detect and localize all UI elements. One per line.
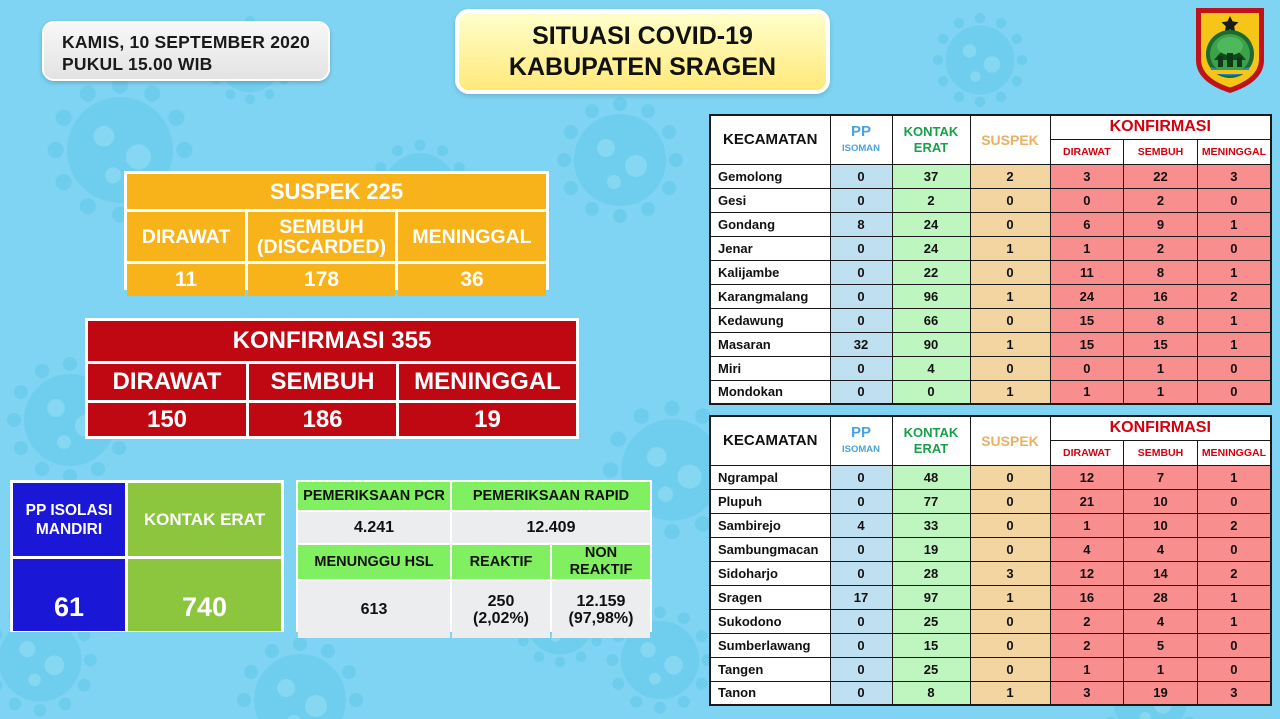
th-sembuh: SEMBUH	[1124, 440, 1198, 465]
date-badge: KAMIS, 10 SEPTEMBER 2020 PUKUL 15.00 WIB	[42, 21, 330, 81]
suspek-value-sembuh: 178	[248, 264, 395, 296]
cell-kontak-erat: 25	[892, 609, 970, 633]
cell-suspek: 0	[970, 489, 1050, 513]
suspek-label-dirawat: DIRAWAT	[127, 212, 245, 261]
th-sembuh: SEMBUH	[1124, 139, 1198, 164]
cell-konfirmasi-meninggal: 1	[1197, 465, 1271, 489]
cell-konfirmasi-sembuh: 1	[1124, 356, 1198, 380]
cell-kontak-erat: 66	[892, 308, 970, 332]
cell-kontak-erat: 25	[892, 657, 970, 681]
konfirmasi-value-meninggal: 19	[399, 403, 576, 436]
cell-konfirmasi-meninggal: 0	[1197, 633, 1271, 657]
cell-konfirmasi-meninggal: 0	[1197, 188, 1271, 212]
cell-kecamatan: Sidoharjo	[710, 561, 830, 585]
cell-kecamatan: Sukodono	[710, 609, 830, 633]
cell-konfirmasi-meninggal: 2	[1197, 513, 1271, 537]
cell-pp-isoman: 0	[830, 188, 892, 212]
cell-konfirmasi-dirawat: 3	[1050, 164, 1124, 188]
cell-kecamatan: Mondokan	[710, 380, 830, 404]
cell-konfirmasi-meninggal: 1	[1197, 260, 1271, 284]
cell-kontak-erat: 37	[892, 164, 970, 188]
konfirmasi-label-sembuh: SEMBUH	[249, 364, 396, 400]
cell-suspek: 1	[970, 236, 1050, 260]
cell-konfirmasi-dirawat: 3	[1050, 681, 1124, 705]
cell-suspek: 0	[970, 609, 1050, 633]
pcr-label: PEMERIKSAAN PCR	[298, 482, 450, 510]
cell-konfirmasi-sembuh: 15	[1124, 332, 1198, 356]
cell-pp-isoman: 0	[830, 657, 892, 681]
cell-kecamatan: Ngrampal	[710, 465, 830, 489]
cell-konfirmasi-dirawat: 1	[1050, 236, 1124, 260]
cell-konfirmasi-meninggal: 0	[1197, 380, 1271, 404]
table-row: Tangen0250110	[710, 657, 1271, 681]
cell-konfirmasi-meninggal: 1	[1197, 585, 1271, 609]
th-dirawat: DIRAWAT	[1050, 139, 1124, 164]
cell-konfirmasi-dirawat: 15	[1050, 308, 1124, 332]
pp-isolasi-label-line1: PP ISOLASI	[26, 501, 113, 520]
testing-summary-panel: PEMERIKSAAN PCR PEMERIKSAAN RAPID 4.241 …	[296, 480, 652, 632]
title-line-1: SITUASI COVID-19	[532, 21, 753, 52]
table-row: Kedawung06601581	[710, 308, 1271, 332]
cell-konfirmasi-dirawat: 1	[1050, 657, 1124, 681]
cell-konfirmasi-sembuh: 2	[1124, 236, 1198, 260]
pp-isolasi-value: 61	[13, 559, 125, 631]
cell-konfirmasi-meninggal: 2	[1197, 284, 1271, 308]
th-kontak-erat: KONTAK ERAT	[892, 115, 970, 164]
th-kecamatan: KECAMATAN	[710, 416, 830, 465]
table-2-body: Ngrampal04801271Plupuh077021100Sambirejo…	[710, 465, 1271, 705]
th-konfirmasi: KONFIRMASI	[1050, 115, 1271, 139]
cell-kontak-erat: 0	[892, 380, 970, 404]
cell-kecamatan: Masaran	[710, 332, 830, 356]
cell-suspek: 0	[970, 212, 1050, 236]
th-konfirmasi: KONFIRMASI	[1050, 416, 1271, 440]
table-row: Sumberlawang0150250	[710, 633, 1271, 657]
cell-konfirmasi-sembuh: 9	[1124, 212, 1198, 236]
cell-pp-isoman: 17	[830, 585, 892, 609]
konfirmasi-heading: KONFIRMASI 355	[88, 321, 576, 361]
table-row: Tanon0813193	[710, 681, 1271, 705]
cell-konfirmasi-dirawat: 0	[1050, 356, 1124, 380]
kontak-erat-label: KONTAK ERAT	[128, 483, 281, 556]
suspek-summary-panel: SUSPEK 225 DIRAWAT SEMBUH (DISCARDED) ME…	[124, 171, 549, 290]
cell-konfirmasi-dirawat: 2	[1050, 633, 1124, 657]
table-row: Jenar0241120	[710, 236, 1271, 260]
table-row: Sidoharjo028312142	[710, 561, 1271, 585]
cell-konfirmasi-sembuh: 8	[1124, 260, 1198, 284]
cell-suspek: 0	[970, 513, 1050, 537]
cell-konfirmasi-meninggal: 1	[1197, 212, 1271, 236]
cell-pp-isoman: 0	[830, 380, 892, 404]
non-reaktif-percent: (97,98%)	[569, 610, 634, 627]
th-pp-isoman: PP ISOMAN	[830, 416, 892, 465]
table-row: Gondang8240691	[710, 212, 1271, 236]
table-row: Sragen1797116281	[710, 585, 1271, 609]
cell-kontak-erat: 48	[892, 465, 970, 489]
cell-kecamatan: Sumberlawang	[710, 633, 830, 657]
table-row: Karangmalang096124162	[710, 284, 1271, 308]
th-kontak-line1: KONTAK	[904, 425, 959, 440]
cell-pp-isoman: 0	[830, 465, 892, 489]
non-reaktif-label: NON REAKTIF	[552, 545, 650, 579]
konfirmasi-label-dirawat: DIRAWAT	[88, 364, 246, 400]
cell-kontak-erat: 90	[892, 332, 970, 356]
cell-kontak-erat: 24	[892, 212, 970, 236]
cell-kecamatan: Gemolong	[710, 164, 830, 188]
cell-konfirmasi-sembuh: 4	[1124, 609, 1198, 633]
kecamatan-table-2: KECAMATAN PP ISOMAN KONTAK ERAT SUSPEK K…	[709, 415, 1272, 706]
reaktif-count: 250	[473, 593, 529, 610]
cell-kecamatan: Kalijambe	[710, 260, 830, 284]
cell-konfirmasi-sembuh: 10	[1124, 513, 1198, 537]
cell-kontak-erat: 33	[892, 513, 970, 537]
pcr-value: 4.241	[298, 512, 450, 543]
cell-kecamatan: Sragen	[710, 585, 830, 609]
cell-pp-isoman: 0	[830, 681, 892, 705]
cell-suspek: 1	[970, 380, 1050, 404]
cell-konfirmasi-dirawat: 1	[1050, 380, 1124, 404]
th-pp-main: PP	[851, 424, 871, 441]
suspek-value-dirawat: 11	[127, 264, 245, 296]
cell-suspek: 0	[970, 260, 1050, 284]
cell-konfirmasi-dirawat: 1	[1050, 513, 1124, 537]
cell-konfirmasi-sembuh: 19	[1124, 681, 1198, 705]
table-row: Gemolong03723223	[710, 164, 1271, 188]
th-kecamatan: KECAMATAN	[710, 115, 830, 164]
cell-konfirmasi-sembuh: 1	[1124, 380, 1198, 404]
cell-suspek: 2	[970, 164, 1050, 188]
cell-kecamatan: Sambirejo	[710, 513, 830, 537]
suspek-value-meninggal: 36	[398, 264, 546, 296]
cell-konfirmasi-dirawat: 12	[1050, 465, 1124, 489]
cell-suspek: 1	[970, 585, 1050, 609]
pp-isolasi-label-line2: MANDIRI	[26, 520, 113, 539]
cell-kontak-erat: 97	[892, 585, 970, 609]
cell-suspek: 3	[970, 561, 1050, 585]
cell-konfirmasi-sembuh: 22	[1124, 164, 1198, 188]
cell-kontak-erat: 96	[892, 284, 970, 308]
table-row: Miri040010	[710, 356, 1271, 380]
cell-konfirmasi-sembuh: 8	[1124, 308, 1198, 332]
reaktif-percent: (2,02%)	[473, 610, 529, 627]
rapid-label: PEMERIKSAAN RAPID	[452, 482, 650, 510]
date-line-2: PUKUL 15.00 WIB	[62, 53, 328, 75]
cell-konfirmasi-meninggal: 1	[1197, 308, 1271, 332]
date-line-1: KAMIS, 10 SEPTEMBER 2020	[62, 31, 328, 53]
cell-kecamatan: Gesi	[710, 188, 830, 212]
cell-pp-isoman: 0	[830, 236, 892, 260]
cell-kontak-erat: 4	[892, 356, 970, 380]
title-line-2: KABUPATEN SRAGEN	[509, 52, 776, 83]
suspek-label-meninggal: MENINGGAL	[398, 212, 546, 261]
cell-konfirmasi-sembuh: 28	[1124, 585, 1198, 609]
cell-konfirmasi-meninggal: 3	[1197, 681, 1271, 705]
reaktif-label: REAKTIF	[452, 545, 550, 579]
cell-kontak-erat: 19	[892, 537, 970, 561]
th-meninggal: MENINGGAL	[1197, 139, 1271, 164]
cell-konfirmasi-meninggal: 0	[1197, 537, 1271, 561]
table-1-header: KECAMATAN PP ISOMAN KONTAK ERAT SUSPEK K…	[710, 115, 1271, 164]
cell-suspek: 1	[970, 332, 1050, 356]
cell-konfirmasi-meninggal: 0	[1197, 657, 1271, 681]
konfirmasi-value-dirawat: 150	[88, 403, 246, 436]
kabupaten-sragen-logo-icon	[1190, 4, 1270, 96]
table-row: Plupuh077021100	[710, 489, 1271, 513]
cell-konfirmasi-dirawat: 4	[1050, 537, 1124, 561]
suspek-label-sembuh-line1: SEMBUH	[257, 217, 386, 237]
cell-konfirmasi-sembuh: 1	[1124, 657, 1198, 681]
table-row: Kalijambe02201181	[710, 260, 1271, 284]
cell-konfirmasi-meninggal: 2	[1197, 561, 1271, 585]
cell-kecamatan: Jenar	[710, 236, 830, 260]
cell-konfirmasi-meninggal: 0	[1197, 236, 1271, 260]
cell-kontak-erat: 77	[892, 489, 970, 513]
cell-konfirmasi-meninggal: 0	[1197, 489, 1271, 513]
cell-konfirmasi-meninggal: 1	[1197, 609, 1271, 633]
table-1-body: Gemolong03723223Gesi020020Gondang8240691…	[710, 164, 1271, 404]
cell-kecamatan: Gondang	[710, 212, 830, 236]
cell-suspek: 1	[970, 284, 1050, 308]
cell-kontak-erat: 2	[892, 188, 970, 212]
th-pp-sub: ISOMAN	[831, 441, 892, 458]
table-row: Sambungmacan0190440	[710, 537, 1271, 561]
cell-kontak-erat: 8	[892, 681, 970, 705]
cell-pp-isoman: 0	[830, 633, 892, 657]
cell-konfirmasi-dirawat: 2	[1050, 609, 1124, 633]
th-dirawat: DIRAWAT	[1050, 440, 1124, 465]
cell-suspek: 1	[970, 681, 1050, 705]
th-meninggal: MENINGGAL	[1197, 440, 1271, 465]
cell-kecamatan: Plupuh	[710, 489, 830, 513]
cell-kecamatan: Sambungmacan	[710, 537, 830, 561]
suspek-heading: SUSPEK 225	[127, 174, 546, 209]
cell-pp-isoman: 0	[830, 537, 892, 561]
cell-konfirmasi-sembuh: 7	[1124, 465, 1198, 489]
cell-konfirmasi-dirawat: 15	[1050, 332, 1124, 356]
cell-pp-isoman: 0	[830, 609, 892, 633]
cell-kecamatan: Tanon	[710, 681, 830, 705]
th-kontak-line2: ERAT	[914, 441, 948, 456]
cell-pp-isoman: 0	[830, 164, 892, 188]
cell-suspek: 0	[970, 356, 1050, 380]
th-pp-main: PP	[851, 123, 871, 140]
cell-konfirmasi-meninggal: 1	[1197, 332, 1271, 356]
cell-konfirmasi-dirawat: 0	[1050, 188, 1124, 212]
reaktif-value: 250 (2,02%)	[452, 581, 550, 638]
non-reaktif-value: 12.159 (97,98%)	[552, 581, 650, 638]
th-pp-sub: ISOMAN	[831, 140, 892, 157]
cell-konfirmasi-dirawat: 6	[1050, 212, 1124, 236]
rapid-value: 12.409	[452, 512, 650, 543]
table-row: Mondokan001110	[710, 380, 1271, 404]
table-row: Ngrampal04801271	[710, 465, 1271, 489]
cell-kecamatan: Kedawung	[710, 308, 830, 332]
th-kontak-erat: KONTAK ERAT	[892, 416, 970, 465]
isolation-summary-panel: PP ISOLASI MANDIRI KONTAK ERAT 61 740	[10, 480, 284, 632]
cell-suspek: 0	[970, 633, 1050, 657]
th-suspek: SUSPEK	[970, 416, 1050, 465]
cell-suspek: 0	[970, 657, 1050, 681]
cell-konfirmasi-sembuh: 2	[1124, 188, 1198, 212]
menunggu-hasil-value: 613	[298, 581, 450, 638]
konfirmasi-summary-panel: KONFIRMASI 355 DIRAWAT SEMBUH MENINGGAL …	[85, 318, 579, 439]
cell-konfirmasi-sembuh: 16	[1124, 284, 1198, 308]
cell-suspek: 0	[970, 308, 1050, 332]
cell-pp-isoman: 0	[830, 260, 892, 284]
cell-konfirmasi-dirawat: 16	[1050, 585, 1124, 609]
cell-konfirmasi-sembuh: 4	[1124, 537, 1198, 561]
cell-pp-isoman: 0	[830, 489, 892, 513]
table-row: Masaran3290115151	[710, 332, 1271, 356]
cell-konfirmasi-sembuh: 5	[1124, 633, 1198, 657]
cell-konfirmasi-meninggal: 3	[1197, 164, 1271, 188]
cell-konfirmasi-dirawat: 12	[1050, 561, 1124, 585]
cell-konfirmasi-dirawat: 24	[1050, 284, 1124, 308]
non-reaktif-count: 12.159	[569, 593, 634, 610]
th-pp-isoman: PP ISOMAN	[830, 115, 892, 164]
konfirmasi-value-sembuh: 186	[249, 403, 396, 436]
cell-suspek: 0	[970, 188, 1050, 212]
suspek-label-sembuh-line2: (DISCARDED)	[257, 237, 386, 257]
th-kontak-line2: ERAT	[914, 140, 948, 155]
cell-kecamatan: Miri	[710, 356, 830, 380]
cell-kontak-erat: 15	[892, 633, 970, 657]
cell-pp-isoman: 4	[830, 513, 892, 537]
cell-kecamatan: Karangmalang	[710, 284, 830, 308]
cell-pp-isoman: 32	[830, 332, 892, 356]
cell-konfirmasi-dirawat: 11	[1050, 260, 1124, 284]
cell-pp-isoman: 0	[830, 356, 892, 380]
table-2-header: KECAMATAN PP ISOMAN KONTAK ERAT SUSPEK K…	[710, 416, 1271, 465]
cell-kontak-erat: 28	[892, 561, 970, 585]
cell-kecamatan: Tangen	[710, 657, 830, 681]
th-suspek: SUSPEK	[970, 115, 1050, 164]
cell-pp-isoman: 0	[830, 284, 892, 308]
kecamatan-table-1: KECAMATAN PP ISOMAN KONTAK ERAT SUSPEK K…	[709, 114, 1272, 405]
suspek-label-sembuh: SEMBUH (DISCARDED)	[248, 212, 395, 261]
pp-isolasi-label: PP ISOLASI MANDIRI	[13, 483, 125, 556]
cell-kontak-erat: 22	[892, 260, 970, 284]
cell-konfirmasi-sembuh: 10	[1124, 489, 1198, 513]
table-row: Gesi020020	[710, 188, 1271, 212]
page-title: SITUASI COVID-19 KABUPATEN SRAGEN	[455, 9, 830, 94]
table-row: Sukodono0250241	[710, 609, 1271, 633]
cell-konfirmasi-meninggal: 0	[1197, 356, 1271, 380]
kontak-erat-value: 740	[128, 559, 281, 631]
konfirmasi-label-meninggal: MENINGGAL	[399, 364, 576, 400]
menunggu-hasil-label: MENUNGGU HSL	[298, 545, 450, 579]
cell-konfirmasi-dirawat: 21	[1050, 489, 1124, 513]
cell-konfirmasi-sembuh: 14	[1124, 561, 1198, 585]
cell-pp-isoman: 0	[830, 308, 892, 332]
cell-pp-isoman: 0	[830, 561, 892, 585]
cell-pp-isoman: 8	[830, 212, 892, 236]
cell-suspek: 0	[970, 465, 1050, 489]
cell-kontak-erat: 24	[892, 236, 970, 260]
th-kontak-line1: KONTAK	[904, 124, 959, 139]
cell-suspek: 0	[970, 537, 1050, 561]
table-row: Sambirejo43301102	[710, 513, 1271, 537]
